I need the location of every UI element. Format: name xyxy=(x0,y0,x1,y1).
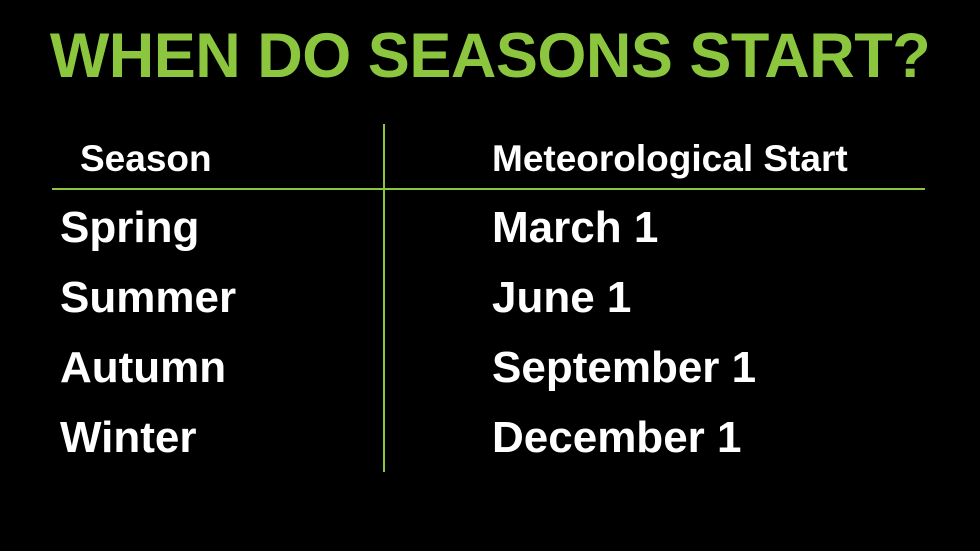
column-header-meteorological-start: Meteorological Start xyxy=(492,131,928,185)
cell-meteorological-start: September 1 xyxy=(492,333,932,403)
table-row: Autumn September 1 xyxy=(0,333,980,403)
column-header-season: Season xyxy=(80,131,380,185)
header-divider-horizontal xyxy=(52,188,925,190)
seasons-table: Season Meteorological Start Spring March… xyxy=(0,0,980,551)
cell-season: Winter xyxy=(60,403,380,473)
table-row: Spring March 1 xyxy=(0,193,980,263)
slide-canvas: WHEN DO SEASONS START? Season Meteorolog… xyxy=(0,0,980,551)
cell-meteorological-start: June 1 xyxy=(492,263,932,333)
cell-meteorological-start: December 1 xyxy=(492,403,932,473)
cell-meteorological-start: March 1 xyxy=(492,193,932,263)
table-row: Summer June 1 xyxy=(0,263,980,333)
cell-season: Summer xyxy=(60,263,380,333)
cell-season: Spring xyxy=(60,193,380,263)
cell-season: Autumn xyxy=(60,333,380,403)
table-row: Winter December 1 xyxy=(0,403,980,473)
